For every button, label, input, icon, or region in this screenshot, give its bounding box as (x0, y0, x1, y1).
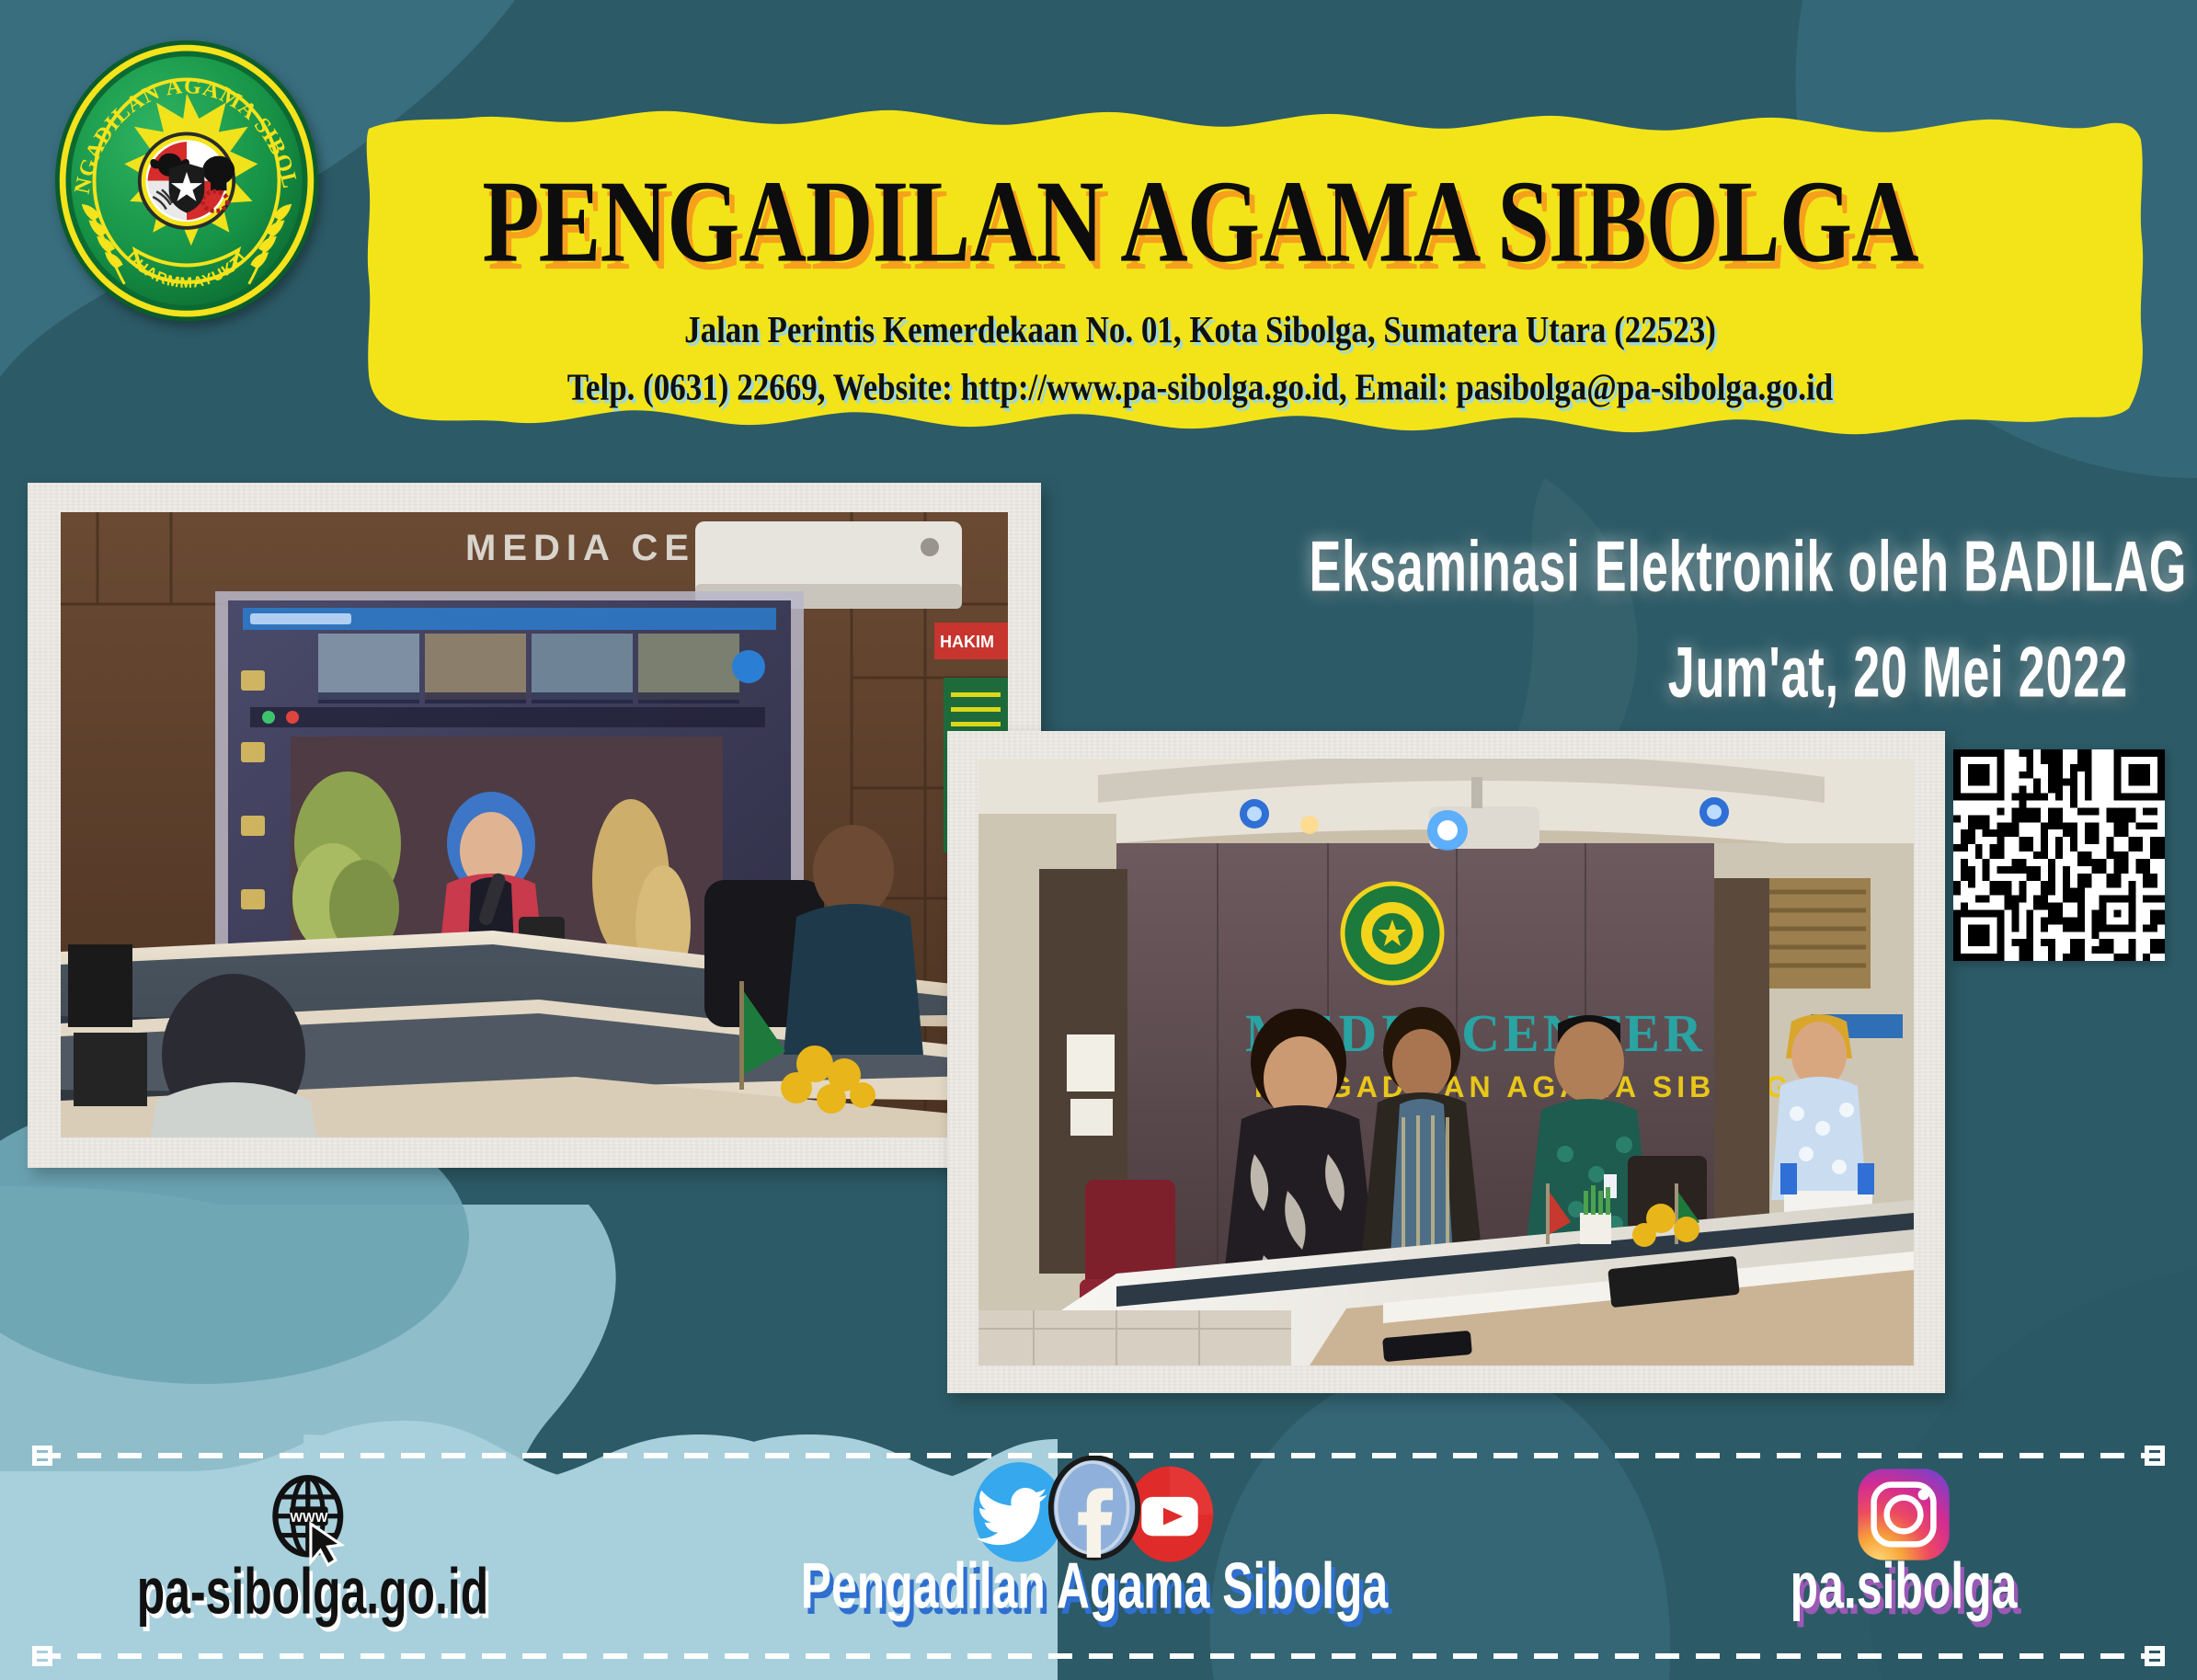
svg-text:WWW: WWW (290, 1511, 327, 1526)
photo-media-center-staff: MEDIA CENTER PENGADILAN AGAMA SIBOLGA (978, 759, 1914, 1366)
corner-marker-bottom-right (2145, 1646, 2165, 1666)
address-line-2: Telp. (0631) 22669, Website: http://www.… (368, 362, 2032, 412)
website-label: pa-sibolga.go.id (91, 1554, 534, 1629)
corner-marker-top-left (32, 1446, 52, 1466)
header-banner: PENGADILAN AGAMA SIBOLGA Jalan Perintis … (0, 0, 2197, 478)
address-line-1: Jalan Perintis Kemerdekaan No. 01, Kota … (368, 305, 2032, 355)
footer-social[interactable]: Pengadilan Agama Sibolga (745, 1480, 1444, 1610)
photo-frame-media-center-staff: MEDIA CENTER PENGADILAN AGAMA SIBOLGA (947, 731, 1945, 1393)
event-date: Jum'at, 20 Mei 2022 (1310, 632, 2128, 714)
corner-marker-bottom-left (32, 1646, 52, 1666)
instagram-label: pa.sibolga (1682, 1549, 2125, 1624)
svg-text:HAKIM: HAKIM (940, 633, 994, 651)
footer-instagram[interactable]: pa.sibolga (1646, 1480, 2161, 1610)
photo-frame-media-center-zoom: MEDIA CENT R (28, 483, 1041, 1168)
corner-marker-top-right (2145, 1446, 2165, 1466)
footer: WWW pa-sibolga.go.id (0, 1434, 2197, 1680)
event-title: Eksaminasi Elektronik oleh BADILAG (1310, 526, 2128, 608)
footer-website[interactable]: WWW pa-sibolga.go.id (55, 1486, 570, 1616)
address-block: Jalan Perintis Kemerdekaan No. 01, Kota … (368, 305, 2032, 412)
photo-media-center-zoom-meeting: MEDIA CENT R (61, 512, 1008, 1137)
divider-bottom (37, 1653, 2160, 1659)
qr-code[interactable] (1953, 749, 2165, 961)
pengadilan-agama-sibolga-emblem-icon: PENGADILAN AGAMA SIBOLGA DHARMMAYUKTI (53, 39, 320, 324)
page-title: PENGADILAN AGAMA SIBOLGA (393, 161, 2008, 281)
facebook-icon[interactable] (1040, 1456, 1149, 1569)
event-info: Eksaminasi Elektronik oleh BADILAG Jum'a… (1153, 526, 2128, 697)
